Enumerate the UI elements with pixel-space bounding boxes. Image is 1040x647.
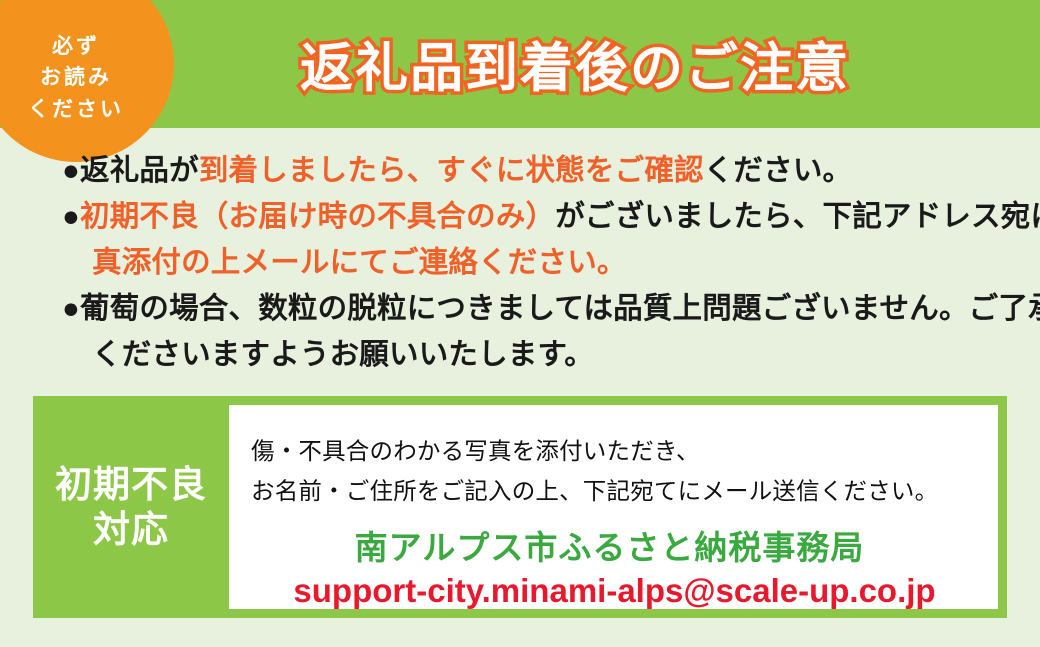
must-read-badge: 必ず お読み ください xyxy=(0,0,174,162)
notice-2-highlight: 初期不良（お届け時の不具合のみ） xyxy=(80,200,555,233)
notice-2-bullet: ● xyxy=(62,200,80,233)
contact-panel: 傷・不具合のわかる写真を添付いただき、 お名前・ご住所をご記入の上、下記宛てにメ… xyxy=(229,405,998,609)
notice-2-line-2: 真添付の上メールにてご連絡ください。 xyxy=(62,240,1012,286)
contact-label-line-1: 初期不良 xyxy=(55,462,207,507)
notice-1-highlight: 到着しましたら、すぐに状態をご確認 xyxy=(199,154,704,187)
contact-label-line-2: 対応 xyxy=(93,507,169,552)
organization-name: 南アルプス市ふるさと納税事務局 xyxy=(251,521,998,569)
notice-list: ●返礼品が到着しましたら、すぐに状態をご確認ください。 ●初期不良（お届け時の不… xyxy=(62,148,1012,378)
badge-line-1: 必ず xyxy=(52,31,100,63)
instruction-line-1: 傷・不具合のわかる写真を添付いただき、 xyxy=(251,431,998,471)
contact-label: 初期不良 対応 xyxy=(33,396,229,618)
notice-poster: 返礼品到着後のご注意 必ず お読み ください ●返礼品が到着しましたら、すぐに状… xyxy=(0,0,1040,647)
notice-3-line-1: ●葡萄の場合、数粒の脱粒につきましては品質上問題ございません。ご了承 xyxy=(62,292,1040,325)
badge-line-3: ください xyxy=(28,94,124,126)
notice-item-1: ●返礼品が到着しましたら、すぐに状態をご確認ください。 xyxy=(62,148,1012,194)
instruction-line-2: お名前・ご住所をご記入の上、下記宛てにメール送信ください。 xyxy=(251,471,998,511)
contact-email[interactable]: support-city.minami-alps@scale-up.co.jp xyxy=(251,572,998,610)
notice-1-text-b: ください。 xyxy=(704,154,853,187)
notice-3-line-2: くださいますようお願いいたします。 xyxy=(62,332,1012,378)
notice-item-2: ●初期不良（お届け時の不具合のみ）がございましたら、下記アドレス宛に写 真添付の… xyxy=(62,194,1012,286)
badge-line-2: お読み xyxy=(40,62,112,94)
notice-item-3: ●葡萄の場合、数粒の脱粒につきましては品質上問題ございません。ご了承 くださいま… xyxy=(62,286,1012,378)
contact-box: 初期不良 対応 傷・不具合のわかる写真を添付いただき、 お名前・ご住所をご記入の… xyxy=(33,396,1007,618)
notice-1-text-a: ●返礼品が xyxy=(62,154,199,187)
notice-2-text-b: がございましたら、下記アドレス宛に xyxy=(555,200,1040,233)
